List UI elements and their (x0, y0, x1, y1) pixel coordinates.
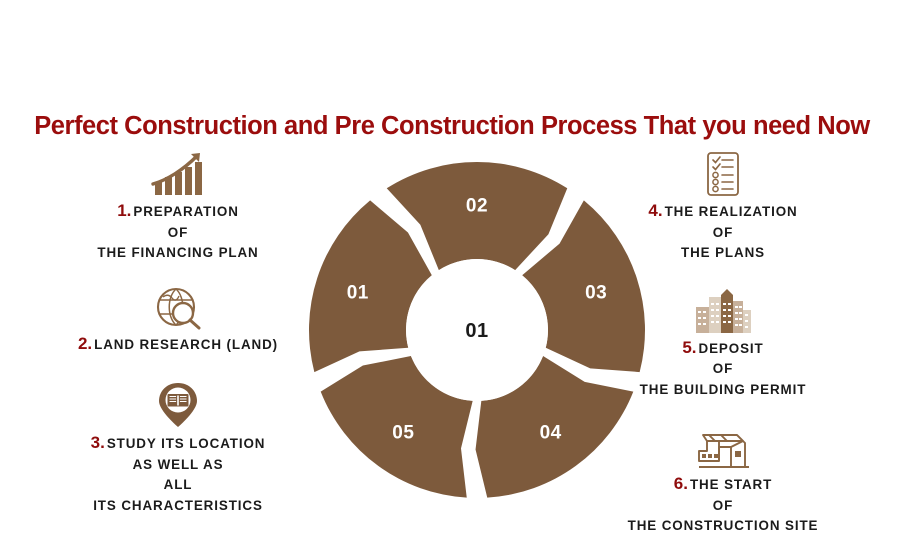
donut-segment-label-05: 05 (392, 422, 414, 443)
construction-crane-icon (693, 423, 753, 471)
step-3-line-2: AS WELL AS (91, 455, 266, 476)
step-item-1[interactable]: 1.PREPARATION OF THE FINANCING PLAN (33, 150, 323, 264)
step-3-number: 3. (91, 433, 105, 452)
step-6-line-1: THE START (690, 477, 772, 492)
checklist-clipboard-icon (700, 150, 746, 198)
step-4-text: 4.THE REALIZATION OF THE PLANS (648, 201, 797, 264)
step-3-text: 3.STUDY ITS LOCATION AS WELL AS ALL ITS … (91, 433, 266, 516)
step-1-text: 1.PREPARATION OF THE FINANCING PLAN (97, 201, 258, 264)
step-item-2[interactable]: 2.LAND RESEARCH (LAND) (33, 285, 323, 356)
map-pin-book-icon (153, 380, 203, 430)
step-4-line-3: THE PLANS (648, 243, 797, 264)
step-6-line-3: THE CONSTRUCTION SITE (628, 516, 819, 537)
step-3-line-3: ALL (91, 475, 266, 496)
step-5-line-2: OF (640, 359, 807, 380)
step-1-number: 1. (117, 201, 131, 220)
step-3-line-1: STUDY ITS LOCATION (107, 436, 266, 451)
step-4-number: 4. (648, 201, 662, 220)
step-2-number: 2. (78, 334, 92, 353)
globe-search-icon (149, 285, 207, 331)
donut-segment-label-02: 02 (466, 196, 488, 217)
step-5-number: 5. (682, 338, 696, 357)
step-1-line-2: OF (97, 223, 258, 244)
step-6-number: 6. (674, 474, 688, 493)
left-steps-column: 1.PREPARATION OF THE FINANCING PLAN 2.LA… (33, 150, 323, 516)
step-5-line-3: THE BUILDING PERMIT (640, 380, 807, 401)
step-item-3[interactable]: 3.STUDY ITS LOCATION AS WELL AS ALL ITS … (33, 380, 323, 516)
donut-segment-label-01: 01 (347, 282, 369, 303)
step-6-text: 6.THE START OF THE CONSTRUCTION SITE (628, 474, 819, 537)
step-5-line-1: DEPOSIT (699, 341, 764, 356)
step-4-line-2: OF (648, 223, 797, 244)
donut-center-label: 01 (465, 320, 488, 342)
step-4-line-1: THE REALIZATION (665, 204, 798, 219)
step-2-text: 2.LAND RESEARCH (LAND) (78, 334, 278, 356)
city-buildings-icon (692, 287, 754, 335)
process-donut-chart: 0102030405 01 (307, 160, 647, 500)
step-1-line-1: PREPARATION (133, 204, 238, 219)
page-title: Perfect Construction and Pre Constructio… (0, 112, 904, 141)
step-2-line-1: LAND RESEARCH (LAND) (94, 337, 278, 352)
donut-segment-label-03: 03 (585, 282, 607, 303)
step-1-line-3: THE FINANCING PLAN (97, 243, 258, 264)
step-5-text: 5.DEPOSIT OF THE BUILDING PERMIT (640, 338, 807, 401)
donut-chart-svg: 0102030405 01 (307, 160, 647, 500)
donut-segment-label-04: 04 (540, 422, 562, 443)
growth-bar-chart-icon (147, 150, 209, 198)
